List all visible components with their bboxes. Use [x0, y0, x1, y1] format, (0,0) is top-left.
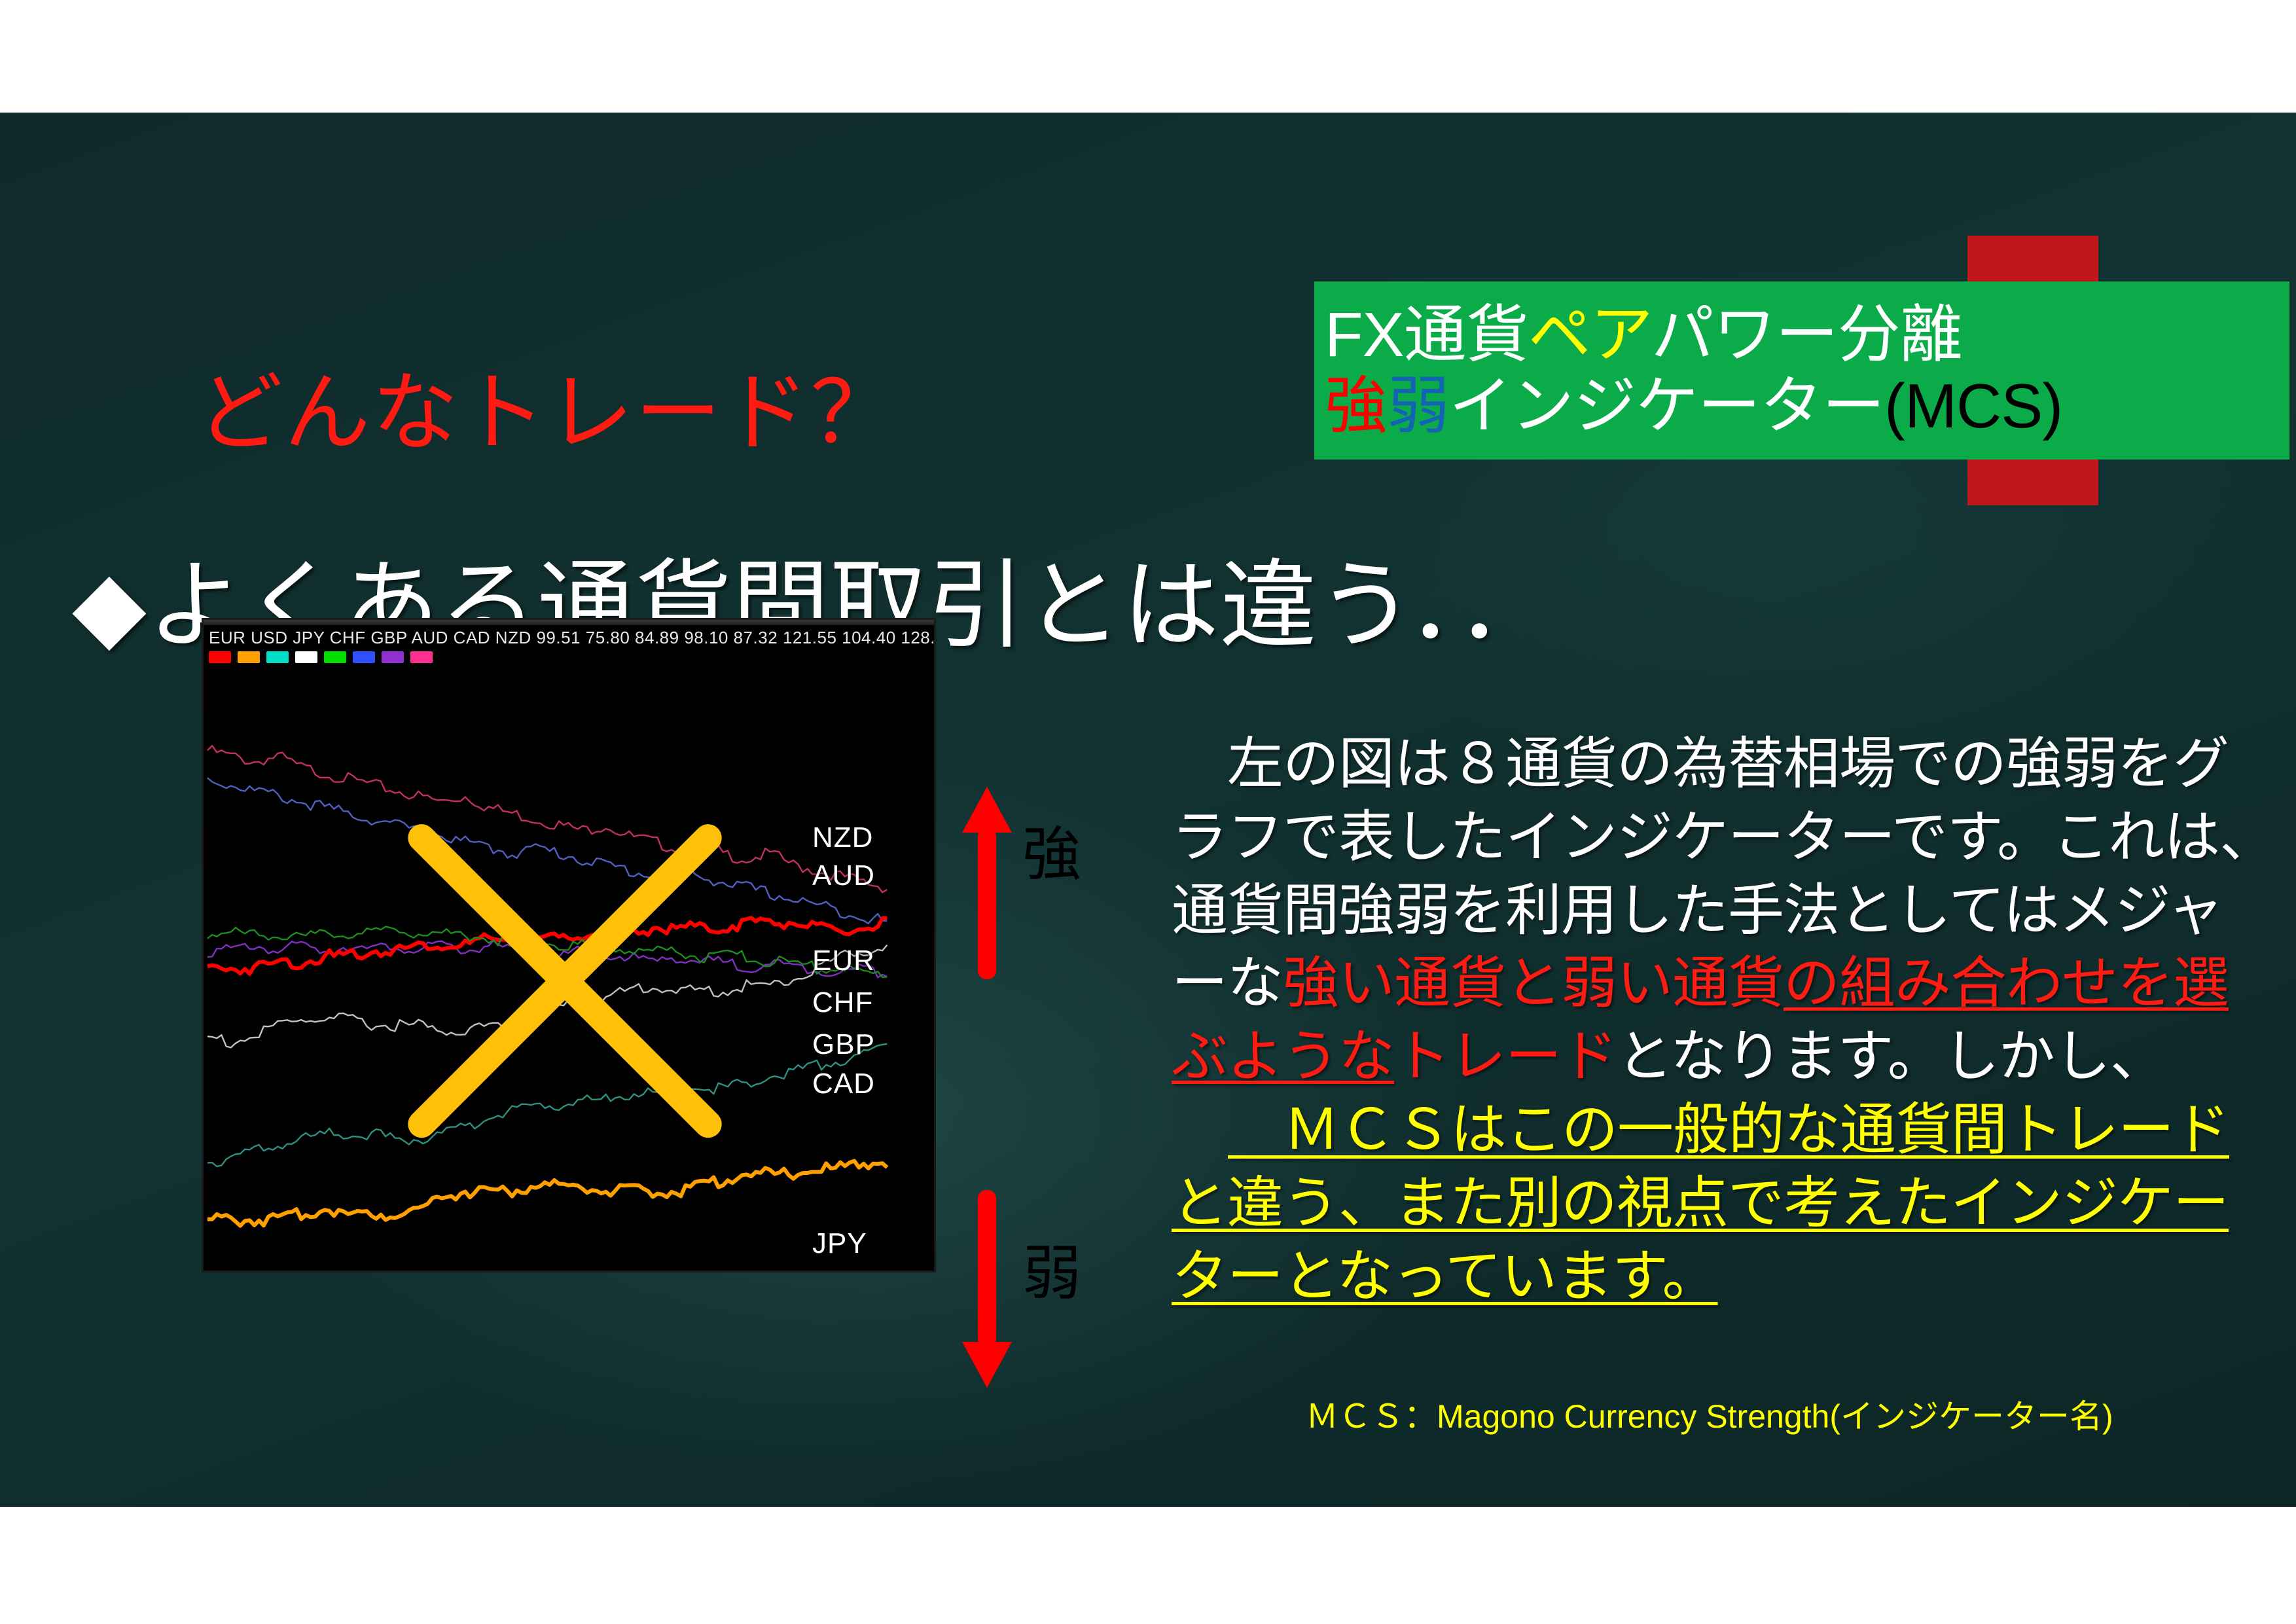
strength-label-weak: 弱	[1022, 1225, 1081, 1310]
banner-line-1: FX通貨ペアパワー分離	[1325, 299, 2289, 370]
arrow-up-icon	[961, 787, 1013, 986]
arrow-down-icon	[961, 1186, 1013, 1392]
cross-out-x-icon	[204, 620, 934, 1271]
banner-l1-part2: ペア	[1528, 300, 1651, 370]
banner-line-2: 強弱インジケーター(MCS)	[1325, 370, 2289, 442]
title-banner: FX通貨ペアパワー分離 強弱インジケーター(MCS)	[1314, 281, 2289, 460]
body-p2-yellow: ＭＣＳはこの一般的な通貨間トレードと違う、また別の視点で考えたインジケーターとな…	[1172, 1098, 2229, 1308]
banner-accent-top	[1967, 236, 2098, 283]
currency-strength-chart: EUR USD JPY CHF GBP AUD CAD NZD 99.51 75…	[202, 618, 936, 1272]
body-paragraph-2: ＭＣＳはこの一般的な通貨間トレードと違う、また別の視点で考えたインジケーターとな…	[1172, 1094, 2278, 1313]
banner-l1-part3: パワー分離	[1651, 300, 1962, 370]
footnote: ＭＣＳ：Magono Currency Strength(インジケーター名)	[1306, 1390, 2113, 1437]
body-p1-red: 強い通貨と弱い通貨	[1283, 952, 1784, 1015]
body-p1-tail: となります。しかし、	[1617, 1025, 2166, 1088]
banner-l2-part3: インジケーター	[1449, 371, 1884, 441]
body-p1-red-tail: トレード	[1394, 1025, 1617, 1088]
banner-l2-part1: 強	[1325, 371, 1387, 441]
banner-accent-bottom	[1967, 458, 2098, 505]
banner-l2-part2: 弱	[1387, 371, 1449, 441]
slide-canvas: FX通貨ペアパワー分離 強弱インジケーター(MCS) どんなトレード？ ◆よくあ…	[0, 113, 2296, 1507]
banner-l2-part4: (MCS)	[1884, 371, 2062, 441]
body-paragraphs: 左の図は８通貨の為替相場での強弱をグラフで表したインジケーターです。これは、通貨…	[1172, 728, 2278, 1313]
banner-l1-part1: FX通貨	[1325, 300, 1528, 370]
strength-label-strong: 強	[1022, 806, 1081, 892]
page-title: どんなトレード？	[196, 343, 898, 468]
body-paragraph-1: 左の図は８通貨の為替相場での強弱をグラフで表したインジケーターです。これは、通貨…	[1172, 728, 2278, 1094]
